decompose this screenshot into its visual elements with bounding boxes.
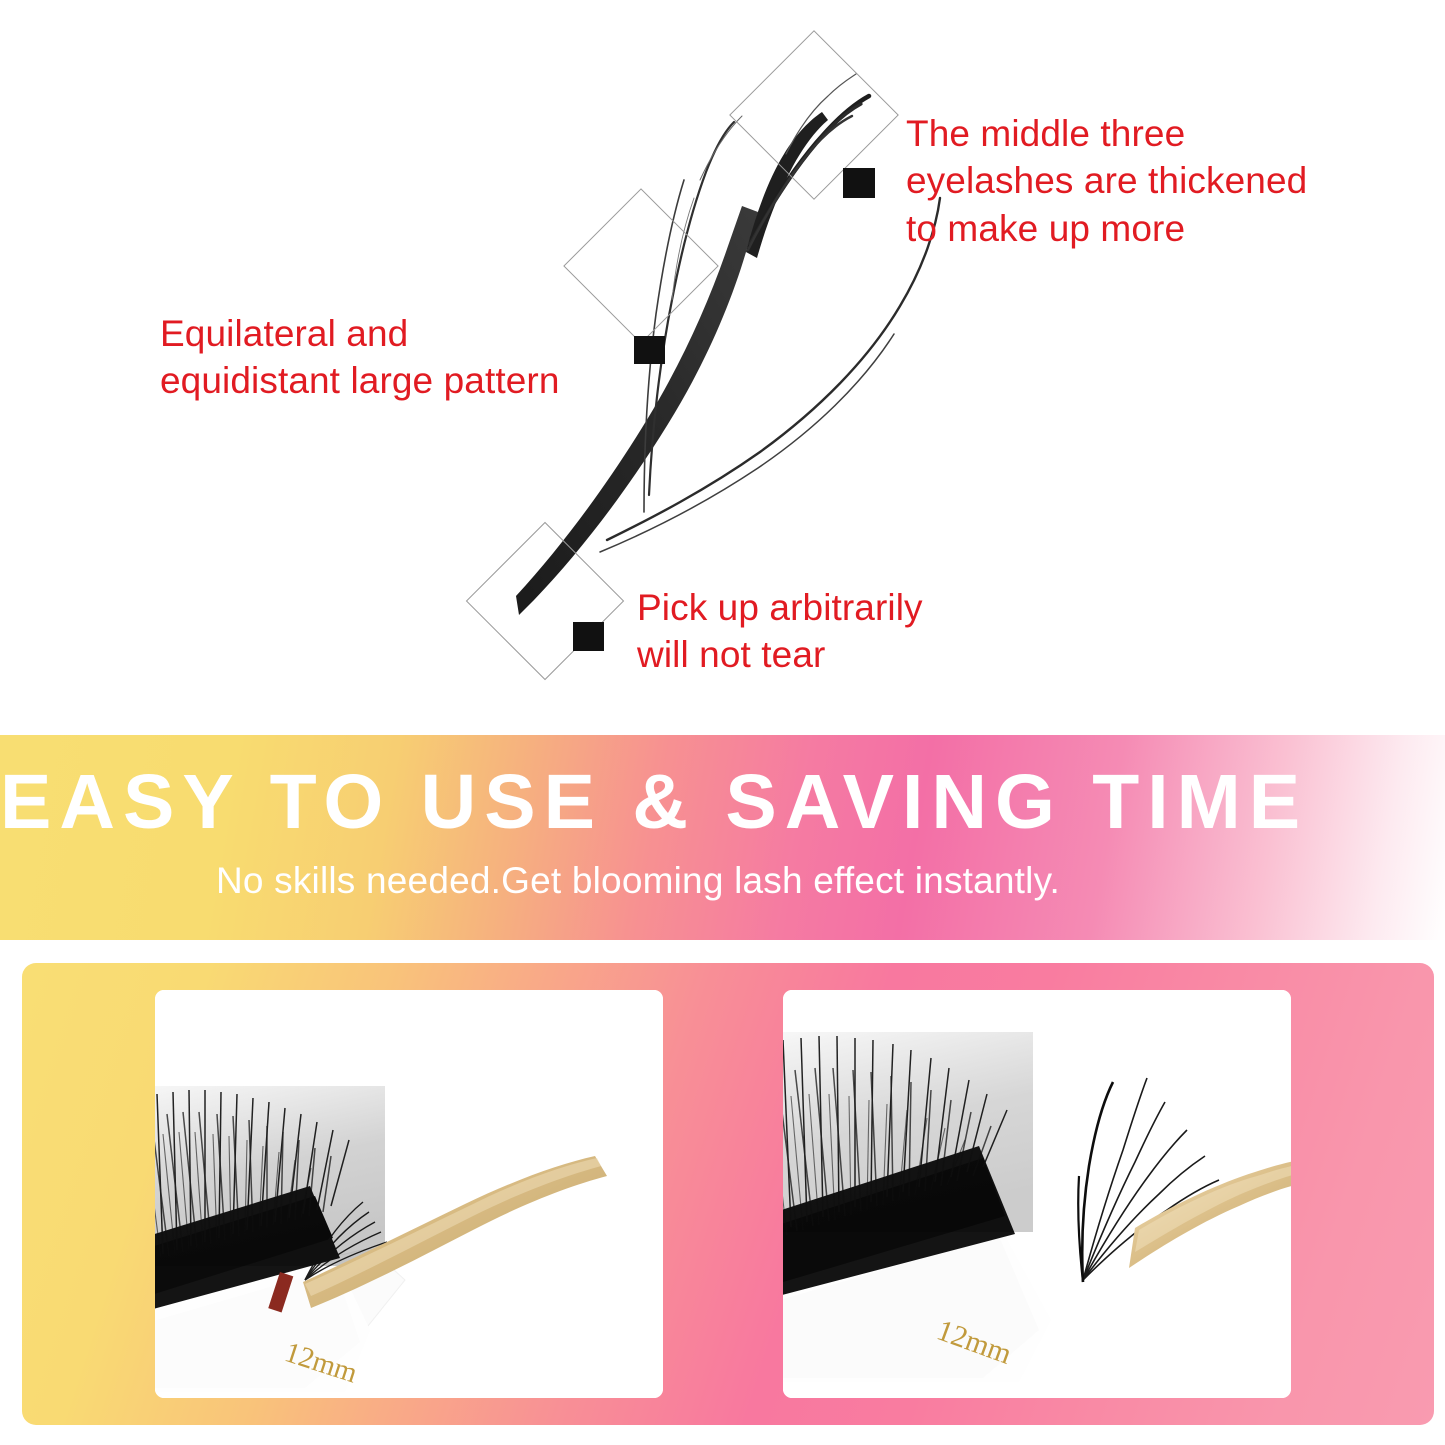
square-marker-1 — [843, 168, 875, 198]
diagram-section: The middle three eyelashes are thickened… — [0, 0, 1445, 735]
callout-middle-three: The middle three eyelashes are thickened… — [906, 110, 1307, 252]
callout-equilateral: Equilateral and equidistant large patter… — [160, 310, 560, 405]
banner-subtitle: No skills needed.Get blooming lash effec… — [0, 859, 1276, 903]
banner-title: EASY TO USE & SAVING TIME — [0, 764, 1290, 841]
photo-gallery-section: 12mm — [22, 963, 1434, 1425]
product-photo-left: 12mm — [155, 990, 663, 1398]
square-marker-2 — [634, 336, 665, 364]
promo-banner: EASY TO USE & SAVING TIME No skills need… — [0, 735, 1445, 940]
callout-pick-up: Pick up arbitrarily will not tear — [637, 584, 923, 679]
product-infographic: The middle three eyelashes are thickened… — [0, 0, 1445, 1445]
product-photo-right: 12mm — [783, 990, 1291, 1398]
lash-tray-photo-right-graphic: 12mm — [783, 990, 1291, 1398]
lash-tray-photo-left-graphic: 12mm — [155, 990, 663, 1398]
square-marker-3 — [573, 622, 604, 651]
